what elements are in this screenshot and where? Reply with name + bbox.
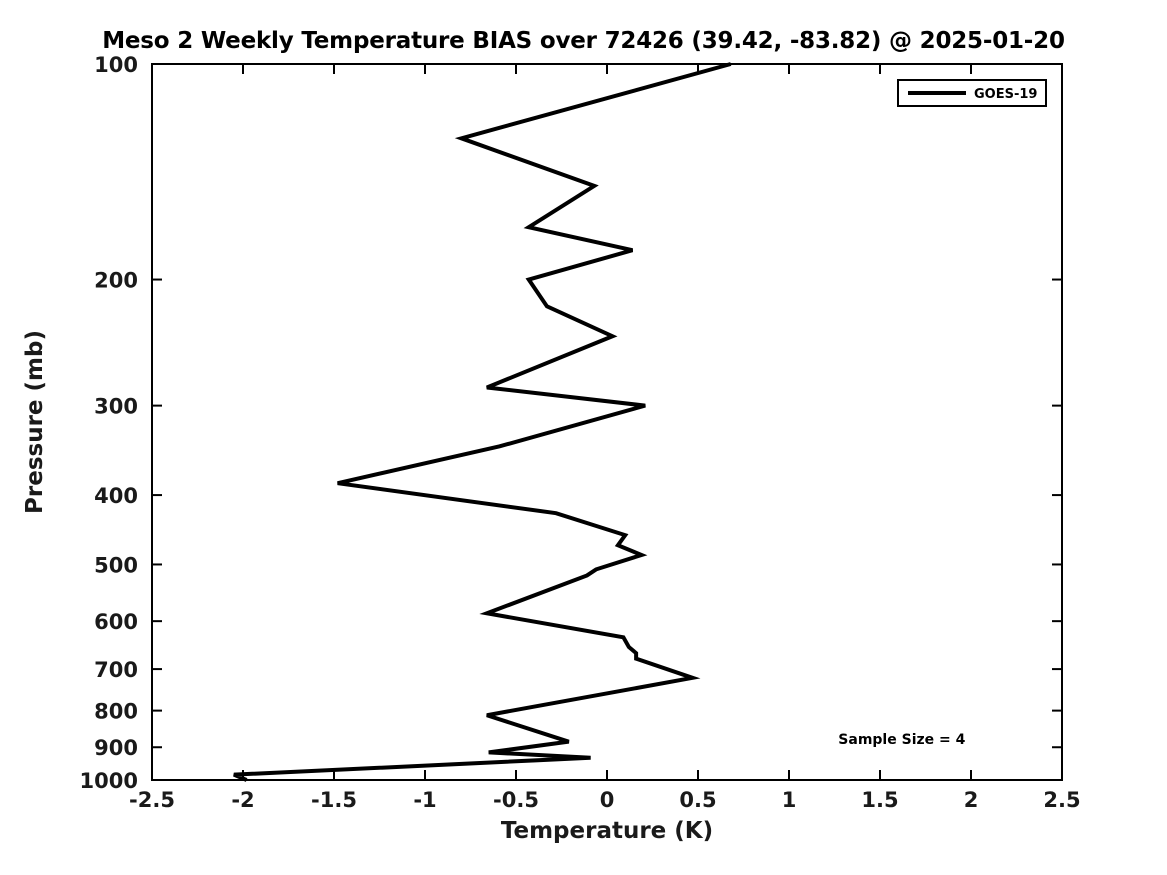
plot-frame	[152, 64, 1062, 780]
series-line-goes-19	[234, 64, 731, 780]
y-tick-label: 300	[94, 395, 138, 419]
x-tick-label: -1.5	[311, 788, 357, 812]
legend-label-goes-19: GOES-19	[974, 87, 1037, 102]
x-axis-ticks: -2.5-2-1.5-1-0.500.511.522.5	[129, 64, 1081, 812]
y-tick-label: 600	[94, 610, 138, 634]
y-tick-label: 500	[94, 553, 138, 577]
y-tick-label: 700	[94, 658, 138, 682]
y-axis-title: Pressure (mb)	[22, 330, 48, 514]
series-lines	[234, 64, 731, 780]
x-tick-label: 1.5	[861, 788, 898, 812]
x-axis-title: Temperature (K)	[501, 818, 713, 844]
x-tick-label: 0	[600, 788, 615, 812]
y-tick-label: 900	[94, 736, 138, 760]
x-tick-label: -2.5	[129, 788, 175, 812]
chart-legend[interactable]: GOES-19	[898, 80, 1046, 106]
y-tick-label: 100	[94, 53, 138, 77]
x-tick-label: 2.5	[1043, 788, 1080, 812]
chart-figure: Meso 2 Weekly Temperature BIAS over 7242…	[0, 0, 1167, 875]
x-tick-label: -2	[231, 788, 254, 812]
y-tick-label: 200	[94, 269, 138, 293]
chart-annotations: Sample Size = 4	[838, 732, 965, 748]
y-tick-label: 800	[94, 700, 138, 724]
x-tick-label: 0.5	[679, 788, 716, 812]
x-tick-label: 1	[782, 788, 797, 812]
y-tick-label: 400	[94, 484, 138, 508]
y-axis-ticks: 1002003004005006007008009001000	[80, 53, 1062, 793]
x-tick-label: 2	[964, 788, 979, 812]
x-tick-label: -1	[413, 788, 436, 812]
x-tick-label: -0.5	[493, 788, 539, 812]
plot-canvas: 1002003004005006007008009001000 -2.5-2-1…	[0, 0, 1167, 875]
sample-size-annotation: Sample Size = 4	[838, 732, 965, 748]
